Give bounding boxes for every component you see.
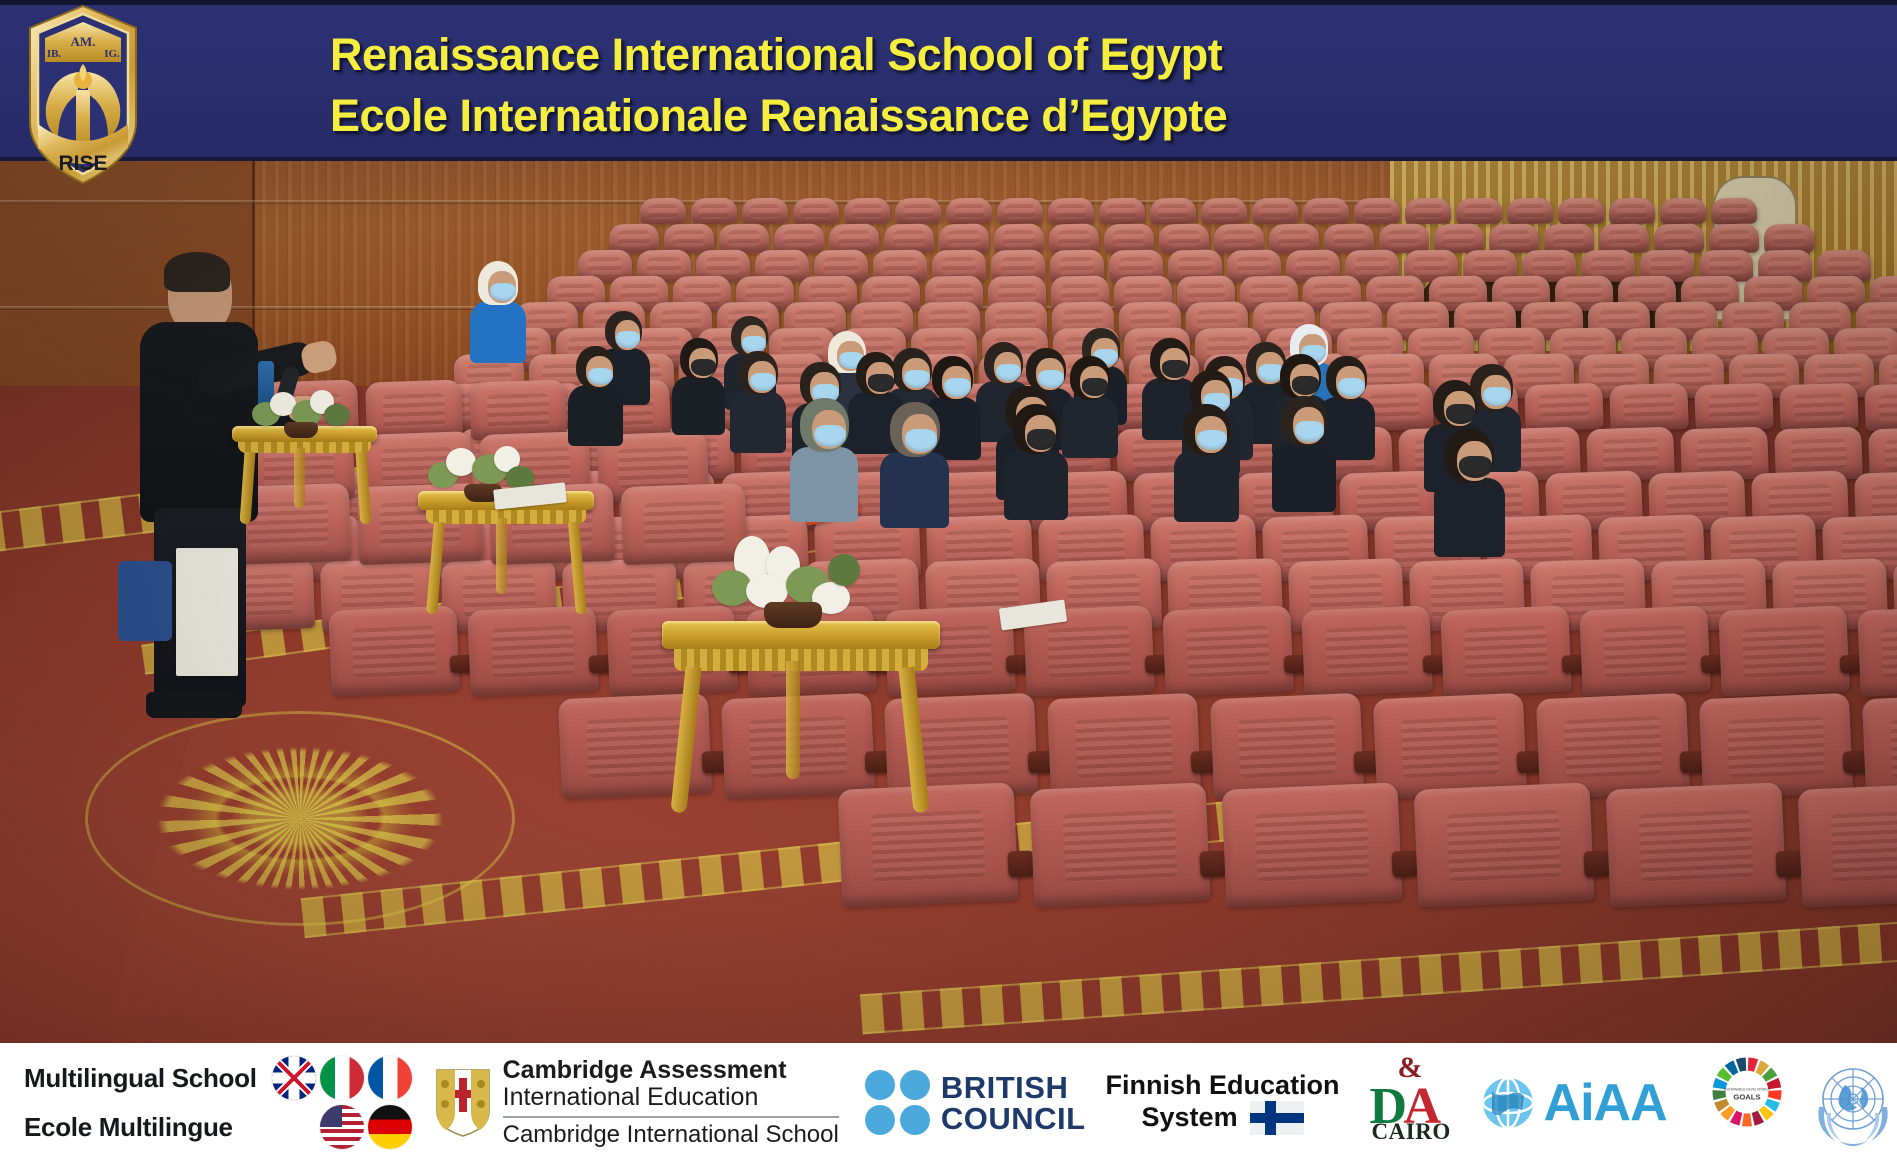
floor-sign [176, 548, 238, 676]
footer-british-council-block: BRITISH COUNCIL [865, 1070, 1086, 1135]
cambridge-divider [503, 1116, 839, 1118]
cambridge-line-2: International Education [503, 1084, 839, 1111]
face-mask-icon [750, 373, 776, 391]
face-mask-icon [944, 378, 971, 396]
multilingual-label-fr: Ecole Multilingue [24, 1112, 257, 1143]
gold-side-table-3 [662, 621, 940, 821]
face-mask-icon [1082, 378, 1108, 396]
face-mask-icon [1446, 404, 1475, 424]
speaker-hair [164, 252, 230, 292]
footer-model-un-block: Model United Nations [1805, 1055, 1897, 1151]
sdg-wheel-segment [1735, 1057, 1745, 1071]
audience-member-torso [470, 301, 526, 363]
footer-aiaa-block: AiAA [1478, 1074, 1667, 1132]
footer-multilingual-block: Multilingual School Ecole Multilingue [10, 1055, 413, 1151]
sdg-center-subtitle: SUSTAINABLE DEVELOPMENT [1723, 1087, 1770, 1091]
rise-school-crest-icon: AM. IB. IG. RISE [18, 2, 148, 187]
germany-flag-icon [368, 1105, 412, 1149]
face-mask-icon [1027, 429, 1057, 450]
face-mask-icon [868, 374, 894, 392]
svg-text:IB.: IB. [47, 48, 62, 60]
blue-backpack [118, 561, 172, 641]
sdg-center-label: GOALS [1733, 1092, 1760, 1101]
audience-member-torso [672, 376, 725, 435]
face-mask-icon [588, 368, 613, 386]
audience-member [672, 338, 723, 429]
cambridge-line-3: Cambridge International School [503, 1122, 839, 1148]
audience-member [730, 351, 784, 447]
multilingual-label-en: Multilingual School [24, 1063, 257, 1094]
svg-text:IG.: IG. [104, 48, 120, 60]
audience-member-torso [790, 447, 858, 523]
cambridge-coat-of-arms-icon [435, 1068, 491, 1138]
united-states-flag-icon [320, 1105, 364, 1149]
audience-member [1004, 404, 1066, 513]
sdg-wheel-segment [1712, 1090, 1726, 1100]
finnish-line-1: Finnish Education [1106, 1070, 1340, 1100]
audience-member-torso [880, 452, 949, 529]
flower-arrangement-3 [712, 536, 862, 628]
united-nations-emblem-icon [1805, 1055, 1897, 1151]
page-title-french: Ecole Internationale Renaissance d’Egypt… [330, 89, 1670, 142]
finland-flag-icon [1250, 1101, 1304, 1135]
audience-members [0, 156, 1897, 1043]
footer-cambridge-block: Cambridge Assessment International Educa… [435, 1057, 839, 1148]
audience-member [1174, 404, 1237, 515]
header-banner: AM. IB. IG. RISE Renaissance Internation… [0, 0, 1897, 158]
audience-member-torso [1004, 450, 1068, 521]
audience-member [880, 402, 947, 521]
audience-member [470, 261, 524, 357]
gold-side-table-1 [232, 426, 377, 531]
gold-side-table-2 [418, 491, 594, 621]
face-mask-icon [1338, 378, 1365, 396]
footer-finnish-block: Finnish Education System [1106, 1070, 1340, 1134]
audience-member [1272, 396, 1334, 505]
aiaa-globe-icon [1478, 1074, 1538, 1132]
british-council-dots-icon [865, 1070, 930, 1135]
footer-sdg-block: SUSTAINABLE DEVELOPMENTGOALS [1689, 1056, 1783, 1150]
face-mask-icon [1295, 421, 1325, 442]
language-flags [271, 1055, 413, 1151]
event-photograph [0, 156, 1897, 1043]
face-mask-icon [691, 359, 716, 376]
da-cairo-subtitle: CAIRO [1372, 1119, 1451, 1145]
british-council-line-1: BRITISH [941, 1072, 1086, 1103]
header-top-rule [0, 0, 1897, 5]
audience-member [790, 398, 856, 515]
speaker-shoes [146, 692, 242, 718]
sustainable-development-goals-wheel-icon: SUSTAINABLE DEVELOPMENTGOALS [1711, 1056, 1783, 1150]
face-mask-icon [1292, 376, 1319, 394]
audience-member-torso [1174, 450, 1239, 522]
face-mask-icon [490, 283, 516, 301]
audience-member [1062, 356, 1116, 452]
british-council-line-2: COUNCIL [941, 1103, 1086, 1134]
france-flag-icon [368, 1056, 412, 1100]
sdg-wheel-segment [1767, 1090, 1781, 1100]
flower-arrangement-1 [252, 386, 352, 436]
audience-member-torso [568, 385, 623, 446]
cambridge-line-1: Cambridge Assessment [503, 1057, 839, 1084]
header-title-block: Renaissance International School of Egyp… [330, 20, 1670, 142]
aiaa-wordmark: AiAA [1544, 1077, 1667, 1129]
svg-text:AM.: AM. [71, 34, 96, 49]
audience-member-torso [1062, 396, 1118, 458]
svg-text:RISE: RISE [58, 152, 107, 175]
accreditation-footer: Multilingual School Ecole Multilingue [0, 1043, 1897, 1162]
audience-member-torso [1434, 478, 1505, 556]
footer-da-cairo-block: & D A CAIRO [1364, 1057, 1462, 1149]
united-kingdom-flag-icon [272, 1056, 316, 1100]
page-title-english: Renaissance International School of Egyp… [330, 28, 1670, 81]
audience-member [1434, 428, 1502, 549]
audience-member-torso [1272, 442, 1336, 513]
audience-member [568, 346, 621, 440]
sdg-wheel-segment [1742, 1113, 1752, 1126]
face-mask-icon [905, 429, 937, 451]
face-mask-icon [814, 425, 846, 447]
sdg-wheel-segment [1747, 1057, 1757, 1071]
finnish-line-2: System [1142, 1102, 1238, 1132]
italy-flag-icon [320, 1056, 364, 1100]
audience-member-torso [730, 391, 786, 453]
poster-root: AM. IB. IG. RISE Renaissance Internation… [0, 0, 1897, 1162]
